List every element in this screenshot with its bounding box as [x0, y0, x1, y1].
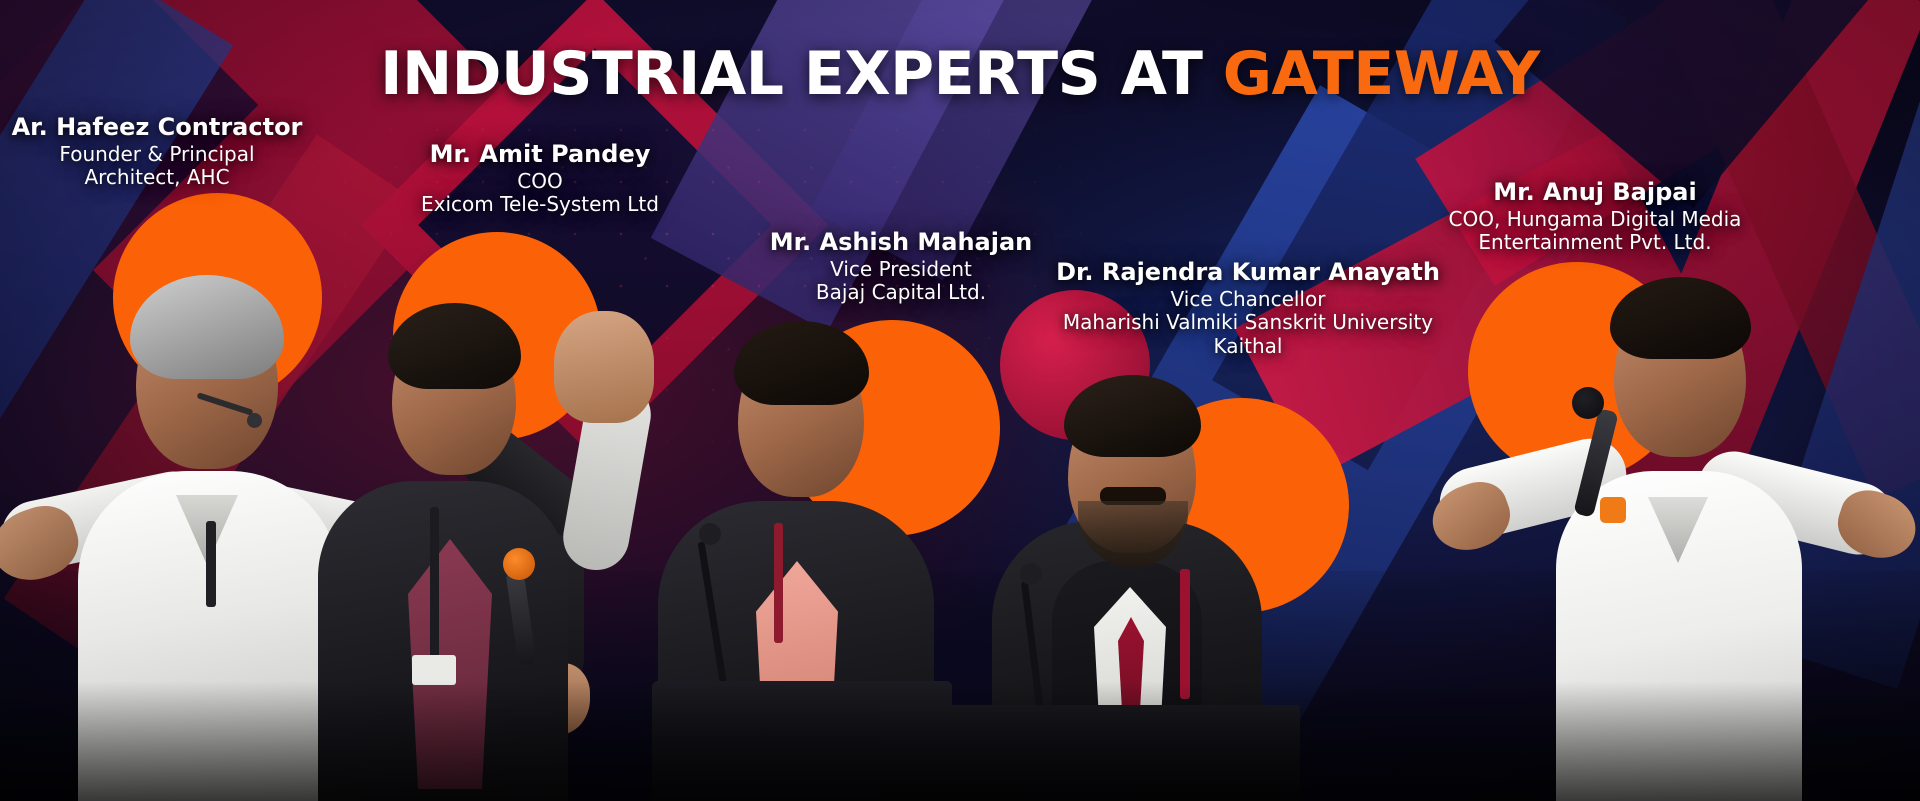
speaker-name-2: Mr. Amit Pandey — [340, 140, 740, 168]
portrait-5-microphone-grip — [1600, 497, 1626, 523]
portrait-5-microphone-head — [1572, 387, 1604, 419]
speaker-role-4-line-3: Kaithal — [1028, 335, 1468, 358]
banner-title: INDUSTRIAL EXPERTS AT GATEWAY — [0, 44, 1920, 104]
speaker-name-3: Mr. Ashish Mahajan — [731, 228, 1071, 256]
portrait-4-hair — [1064, 375, 1201, 457]
speaker-caption-3: Mr. Ashish Mahajan Vice President Bajaj … — [731, 228, 1071, 305]
speaker-role-1-line-1: Founder & Principal — [0, 143, 314, 166]
speaker-role-3-line-1: Vice President — [731, 258, 1071, 281]
event-speakers-banner: INDUSTRIAL EXPERTS AT GATEWAY — [0, 0, 1920, 801]
portrait-2-badge — [412, 655, 456, 685]
speaker-role-4-line-2: Maharishi Valmiki Sanskrit University — [1028, 311, 1468, 334]
title-main-text: INDUSTRIAL EXPERTS AT — [380, 39, 1223, 109]
portrait-3-hand-raised — [554, 311, 654, 423]
portrait-4-lanyard — [1180, 569, 1190, 699]
portrait-2-microphone-head — [503, 548, 535, 580]
portrait-1-lanyard — [206, 521, 216, 607]
portrait-3-podium-mic-head — [699, 523, 721, 545]
portrait-1-headset-mic-tip — [247, 413, 262, 428]
portrait-2-lanyard — [430, 507, 439, 657]
speaker-role-2-line-1: COO — [340, 170, 740, 193]
speaker-role-4-line-1: Vice Chancellor — [1028, 288, 1468, 311]
speaker-name-4: Dr. Rajendra Kumar Anayath — [1028, 258, 1468, 286]
speaker-role-3-line-2: Bajaj Capital Ltd. — [731, 281, 1071, 304]
portrait-4-table — [880, 705, 1300, 801]
portrait-1-hair — [130, 275, 284, 379]
speaker-caption-5: Mr. Anuj Bajpai COO, Hungama Digital Med… — [1420, 178, 1770, 255]
portrait-2-hair — [388, 303, 521, 389]
speaker-caption-4: Dr. Rajendra Kumar Anayath Vice Chancell… — [1028, 258, 1468, 358]
speaker-name-5: Mr. Anuj Bajpai — [1420, 178, 1770, 206]
speaker-caption-2: Mr. Amit Pandey COO Exicom Tele-System L… — [340, 140, 740, 217]
speaker-portrait-4 — [880, 351, 1300, 801]
portrait-3-lanyard — [774, 523, 783, 643]
portrait-5-hair — [1610, 277, 1751, 359]
portrait-4-table-mic-head — [1020, 563, 1042, 585]
speaker-name-1: Ar. Hafeez Contractor — [0, 113, 314, 141]
speaker-role-2-line-2: Exicom Tele-System Ltd — [340, 193, 740, 216]
speaker-role-5-line-1: COO, Hungama Digital Media — [1420, 208, 1770, 231]
title-accent-text: GATEWAY — [1223, 39, 1540, 109]
speaker-role-5-line-2: Entertainment Pvt. Ltd. — [1420, 231, 1770, 254]
speaker-role-1-line-2: Architect, AHC — [0, 166, 314, 189]
portrait-3-hair — [734, 321, 869, 405]
speaker-portrait-5 — [1420, 241, 1920, 801]
speaker-caption-1: Ar. Hafeez Contractor Founder & Principa… — [0, 113, 314, 190]
